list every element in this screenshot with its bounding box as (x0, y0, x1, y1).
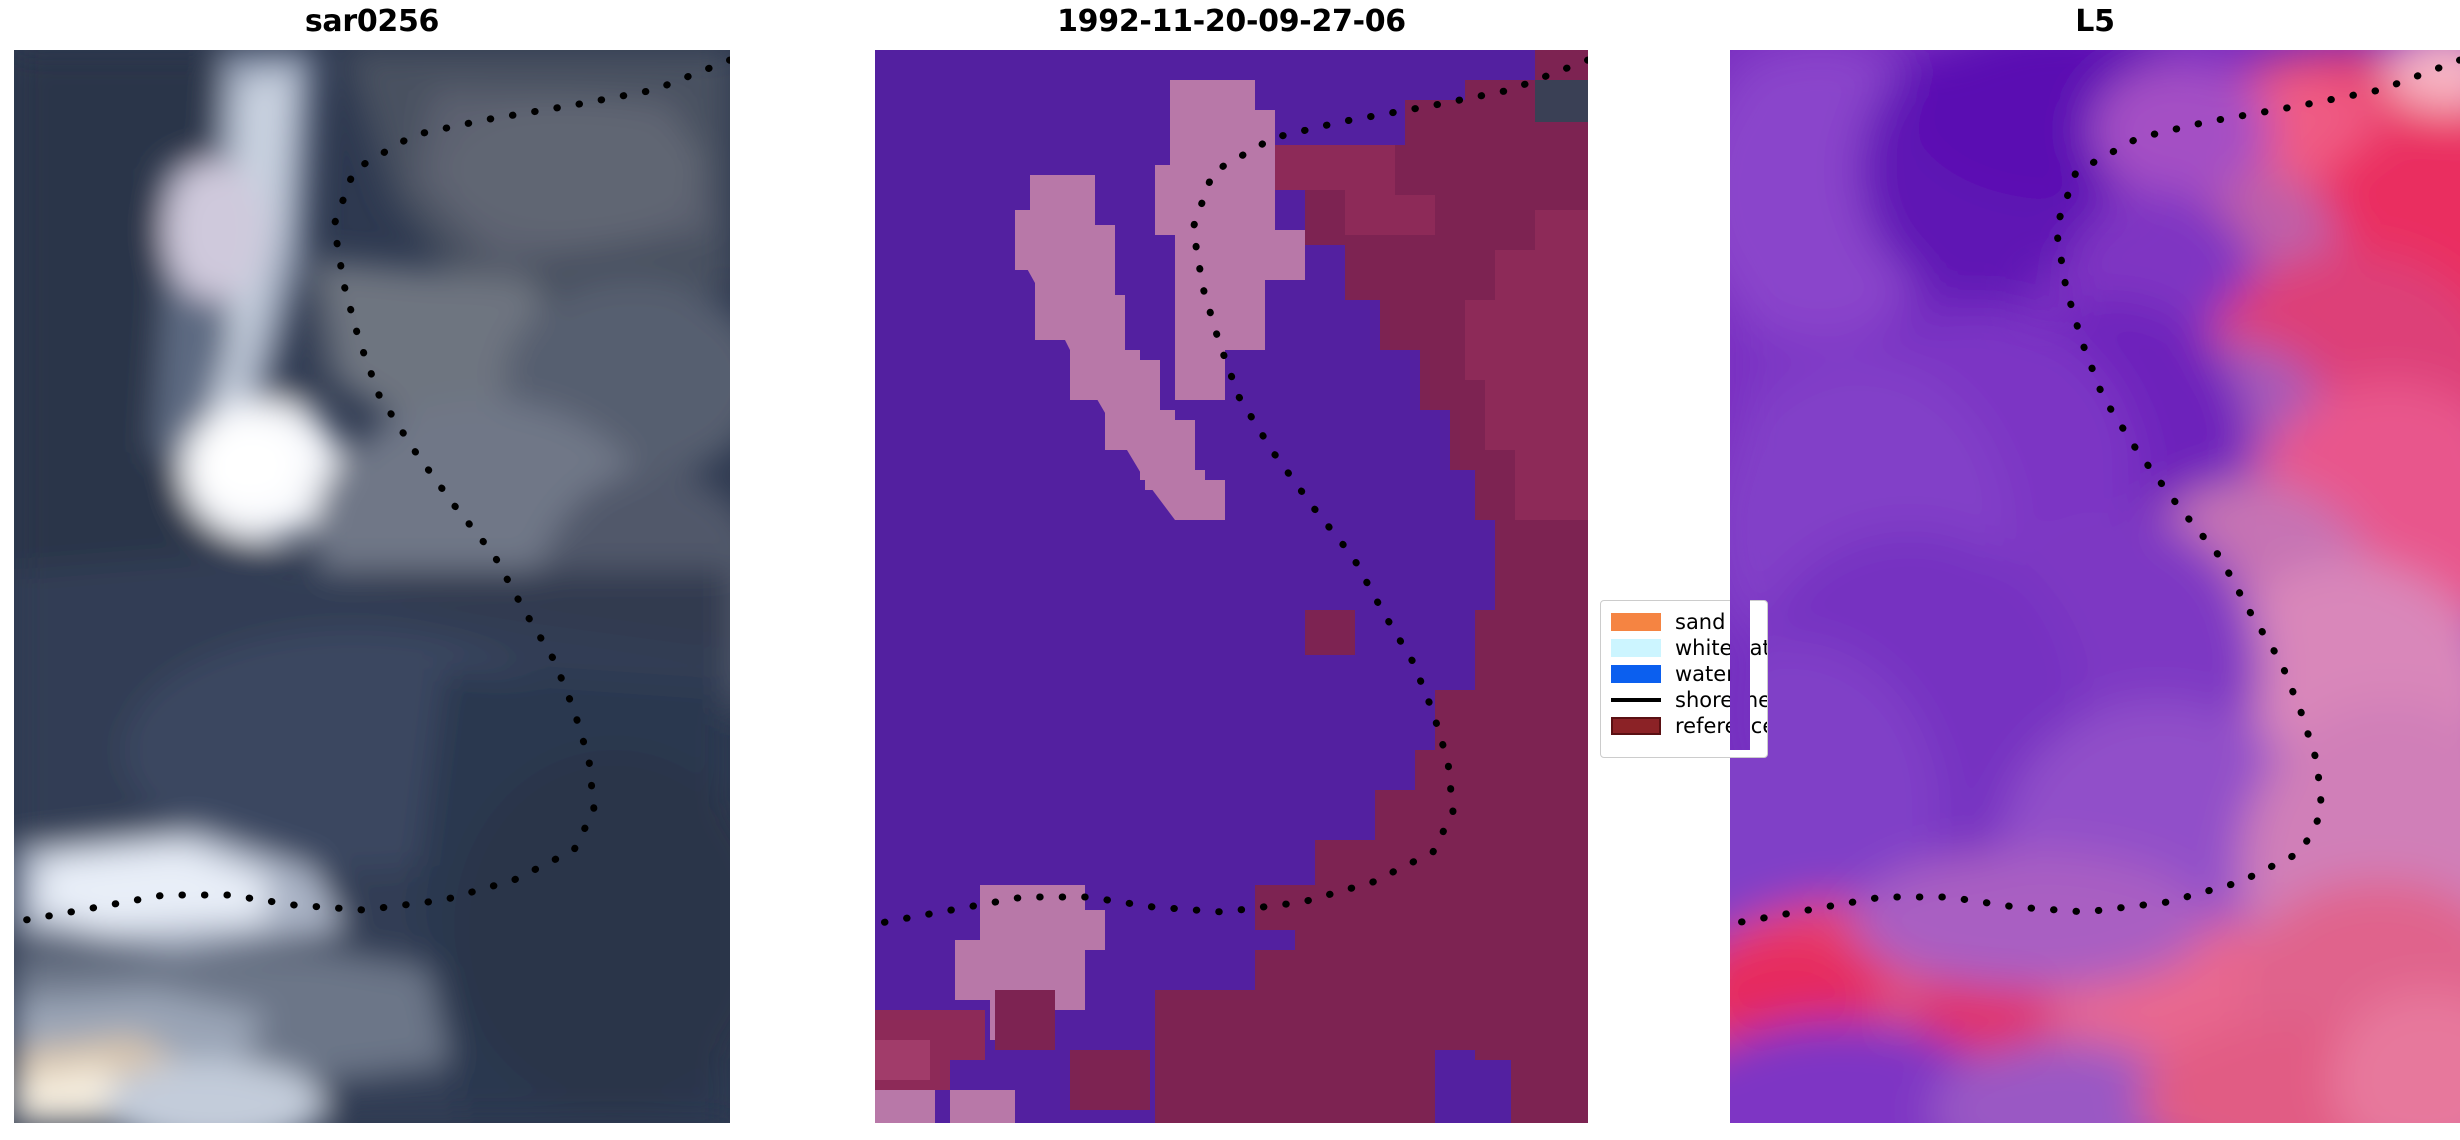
legend-label-shoreline: shoreline (1675, 689, 1768, 711)
panel-1-sar-image[interactable] (14, 50, 730, 1123)
legend-label-sand: sand (1675, 611, 1725, 633)
shoreline-line-swatch (1611, 698, 1661, 702)
panel-1-raster (14, 50, 730, 1123)
panel-3-title: L5 (1730, 0, 2460, 44)
panel-3-l5-image[interactable] (1730, 50, 2460, 1123)
panel-3-raster (1730, 50, 2460, 1123)
sand-swatch (1611, 613, 1661, 631)
figure-root: sar0256 (0, 0, 2460, 1140)
water-swatch (1611, 665, 1661, 683)
legend-item-whitewater[interactable]: whitewater (1611, 635, 1757, 661)
legend-item-sand[interactable]: sand (1611, 609, 1757, 635)
legend-label-whitewater: whitewater (1675, 637, 1768, 659)
panel-2-raster (875, 50, 1588, 1123)
panel-2-title: 1992-11-20-09-27-06 (875, 0, 1588, 44)
panel-2-classification-image[interactable] (875, 50, 1588, 1123)
panel-1-title: sar0256 (14, 0, 730, 44)
classification-svg (875, 50, 1588, 1123)
legend-box[interactable]: sand whitewater water shoreline referenc… (1600, 600, 1768, 758)
whitewater-swatch (1611, 639, 1661, 657)
reference-swatch (1611, 717, 1661, 735)
legend-label-water: water (1675, 663, 1735, 685)
legend-item-reference[interactable]: reference (1611, 713, 1757, 739)
magma-colormap-svg (1730, 50, 2460, 1123)
legend-item-water[interactable]: water (1611, 661, 1757, 687)
sar-composite-svg (14, 50, 730, 1123)
legend-item-shoreline[interactable]: shoreline (1611, 687, 1757, 713)
legend-label-reference: reference (1675, 715, 1768, 737)
